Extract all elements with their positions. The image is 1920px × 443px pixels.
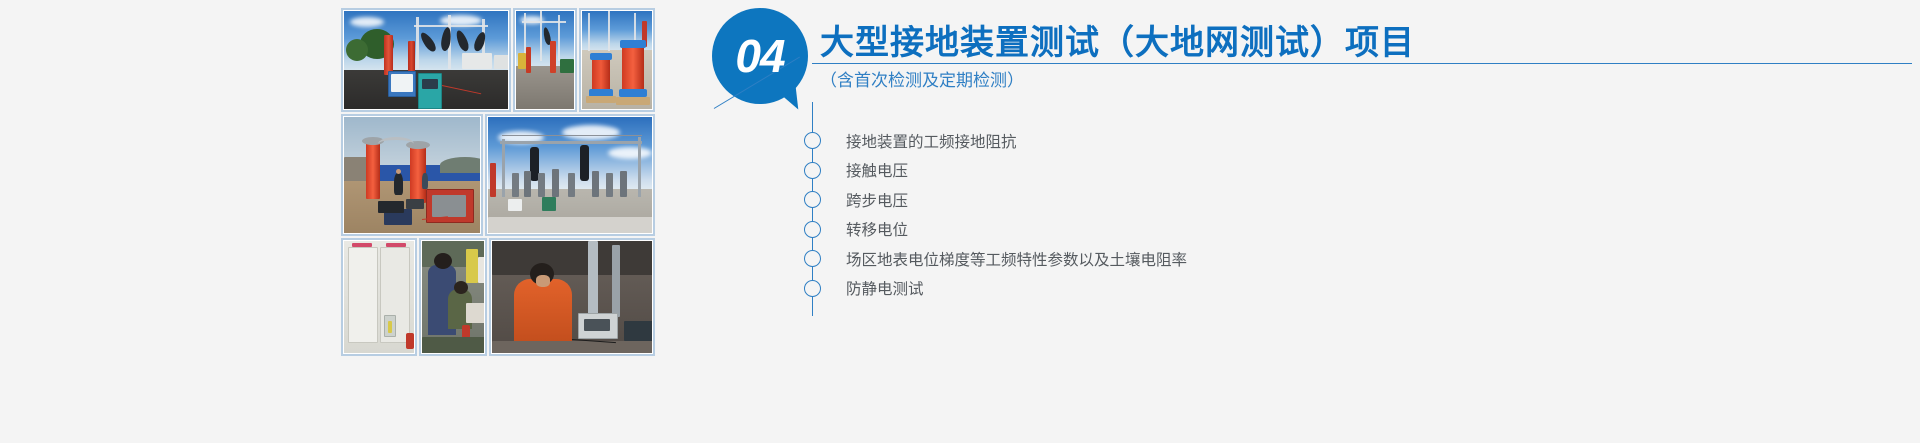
photo-inner [582,11,652,109]
photo-technician-field-measurement[interactable] [489,238,655,356]
photo-inner [344,11,508,109]
timeline-dot-icon [804,250,821,267]
list-item-label: 转移电位 [846,218,908,240]
photo-substation-transformer-test-site[interactable] [341,8,511,112]
photo-inner [516,11,574,109]
timeline-dot-icon [804,221,821,238]
list-item[interactable]: 转移电位 [804,215,1804,245]
photo-inner [344,117,480,233]
list-item[interactable]: 接地装置的工频接地阻抗 [804,126,1804,156]
slide-root: 04 大型接地装置测试（大地网测试）项目 （含首次检测及定期检测） 接地装置的工… [0,0,1920,443]
title-divider [812,63,1912,64]
photo-resonant-test-set-outdoor[interactable] [341,114,483,236]
timeline-dot-icon [804,162,821,179]
list-item[interactable]: 接触电压 [804,156,1804,186]
page-title: 大型接地装置测试（大地网测试）项目 [820,15,1415,64]
list-item-label: 防静电测试 [846,277,924,299]
photo-substation-red-insulator-columns[interactable] [513,8,577,112]
list-item-label: 跨步电压 [846,189,908,211]
photo-inner [492,241,652,353]
list-item-label: 场区地表电位梯度等工频特性参数以及土壤电阻率 [846,248,1187,270]
badge-number-label: 04 [712,8,808,104]
list-item[interactable]: 防静电测试 [804,274,1804,304]
service-timeline-list: 接地装置的工频接地阻抗 接触电压 跨步电压 转移电位 场区地表电位梯度等工频特性… [804,126,1804,303]
list-item[interactable]: 跨步电压 [804,185,1804,215]
photo-engineers-operating-instrument[interactable] [419,238,487,356]
photo-inner [422,241,484,353]
photo-inner [344,241,414,353]
photo-gallery [341,8,655,356]
timeline-dot-icon [804,191,821,208]
list-item-label: 接触电压 [846,159,908,181]
timeline-dot-icon [804,132,821,149]
list-item[interactable]: 场区地表电位梯度等工频特性参数以及土壤电阻率 [804,244,1804,274]
page-subtitle: （含首次检测及定期检测） [820,66,1024,91]
content-panel: 04 大型接地装置测试（大地网测试）项目 （含首次检测及定期检测） 接地装置的工… [700,0,1920,443]
photo-inner [488,117,652,233]
timeline-dot-icon [804,280,821,297]
list-item-label: 接地装置的工频接地阻抗 [846,130,1017,152]
photo-substation-switchgear-yard[interactable] [485,114,655,236]
photo-indoor-switchgear-cabinets[interactable] [341,238,417,356]
photo-blue-red-test-equipment-close[interactable] [579,8,655,112]
